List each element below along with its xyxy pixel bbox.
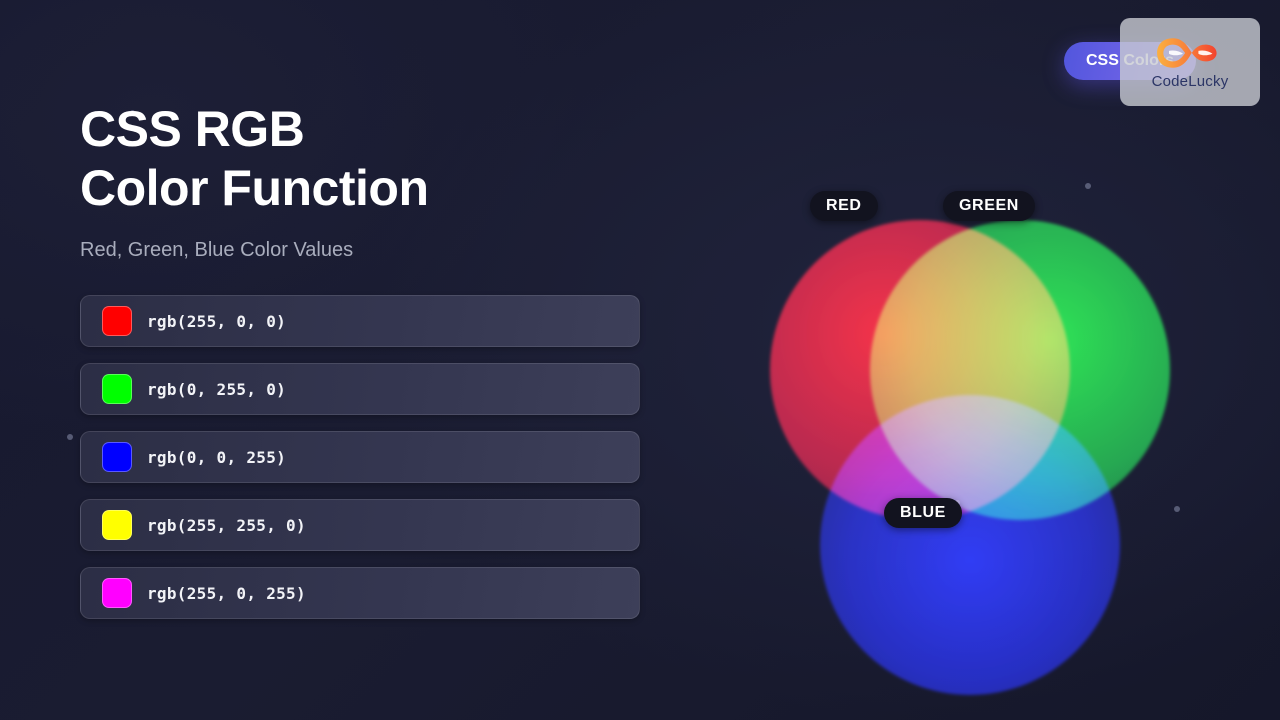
decorative-dot (1174, 506, 1180, 512)
venn-circle-blue (820, 395, 1120, 695)
hero-content: CSS RGB Color Function Red, Green, Blue … (80, 100, 680, 619)
color-swatch-list: rgb(255, 0, 0)rgb(0, 255, 0)rgb(0, 0, 25… (80, 295, 680, 619)
color-swatch-chip-blue (102, 442, 132, 472)
venn-label-green: GREEN (943, 191, 1035, 221)
color-swatch-row[interactable]: rgb(0, 0, 255) (80, 431, 640, 483)
color-swatch-row[interactable]: rgb(0, 255, 0) (80, 363, 640, 415)
color-swatch-row[interactable]: rgb(255, 255, 0) (80, 499, 640, 551)
page-title-line1: CSS RGB (80, 101, 304, 157)
rgb-venn-diagram (770, 200, 1070, 500)
venn-label-blue: BLUE (884, 498, 962, 528)
color-swatch-code: rgb(0, 0, 255) (147, 448, 286, 467)
watermark-brand: CodeLucky (1152, 73, 1229, 90)
color-swatch-chip-red (102, 306, 132, 336)
color-swatch-row[interactable]: rgb(255, 0, 0) (80, 295, 640, 347)
codelucky-watermark: CodeLucky (1120, 18, 1260, 106)
color-swatch-code: rgb(255, 255, 0) (147, 516, 306, 535)
color-swatch-code: rgb(0, 255, 0) (147, 380, 286, 399)
color-swatch-chip-magenta (102, 578, 132, 608)
infinity-leaf-logo-icon (1155, 34, 1225, 72)
page-subtitle: Red, Green, Blue Color Values (80, 239, 680, 262)
venn-label-red: RED (810, 191, 878, 221)
color-swatch-code: rgb(255, 0, 255) (147, 584, 306, 603)
page-title: CSS RGB Color Function (80, 100, 680, 217)
color-swatch-code: rgb(255, 0, 0) (147, 312, 286, 331)
page-title-line2: Color Function (80, 160, 429, 216)
decorative-dot (67, 434, 73, 440)
color-swatch-chip-green (102, 374, 132, 404)
color-swatch-row[interactable]: rgb(255, 0, 255) (80, 567, 640, 619)
color-swatch-chip-yellow (102, 510, 132, 540)
decorative-dot (1085, 183, 1091, 189)
